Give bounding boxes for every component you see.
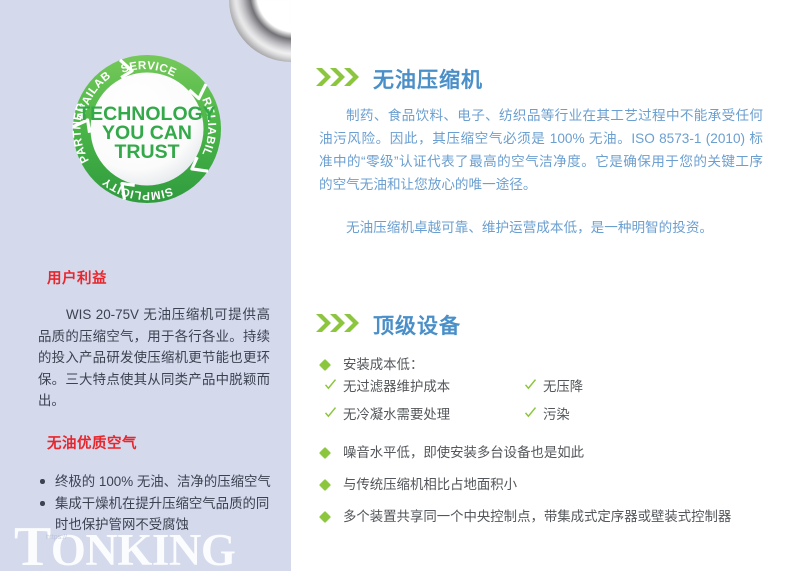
section2-lead-bullet-list: 安装成本低： <box>317 354 767 376</box>
list-item: 与传统压缩机相比占地面积小 <box>317 474 767 496</box>
check-icon <box>525 407 536 418</box>
check-item: 无压降 <box>517 375 717 399</box>
section-header-oil-free-compressor: 无油压缩机 <box>316 64 483 94</box>
section-header-top-equipment: 顶级设备 <box>316 310 461 340</box>
triple-chevron-icon <box>316 67 362 92</box>
sidebar-heading-benefits: 用户利益 <box>47 267 107 288</box>
diamond-bullet-icon <box>319 479 330 490</box>
list-item-label: 安装成本低： <box>343 357 423 372</box>
check-icon <box>325 407 336 418</box>
sidebar-panel: AVAILABILITY SERVICEABILITY RELIABILITY … <box>0 0 291 571</box>
logo-line-3: TRUST <box>115 141 180 163</box>
section1-paragraph-2: 无油压缩机卓越可靠、维护运营成本低，是一种明智的投资。 <box>319 216 763 239</box>
triple-chevron-icon <box>316 313 362 338</box>
page-curl-corner <box>229 0 291 62</box>
list-item: 安装成本低： <box>317 354 767 376</box>
brochure-page: AVAILABILITY SERVICEABILITY RELIABILITY … <box>0 0 788 571</box>
check-item-label: 无冷凝水需要处理 <box>343 407 450 422</box>
check-icon <box>525 379 536 390</box>
check-item: 无冷凝水需要处理 <box>317 403 517 427</box>
sidebar-heading-oilfree-air: 无油优质空气 <box>47 432 137 453</box>
list-item-label: 与传统压缩机相比占地面积小 <box>343 477 517 492</box>
watermark-logo: TONKING <box>14 519 235 571</box>
watermark-url: https:// <box>46 534 67 541</box>
section2-bullet-list: 噪音水平低，即使安装多台设备也是如此 与传统压缩机相比占地面积小 多个装置共享同… <box>317 442 767 538</box>
page-curl-edge <box>229 0 291 62</box>
watermark-text: ONKING <box>51 525 236 571</box>
list-item: 多个装置共享同一个中央控制点，带集成式定序器或壁装式控制器 <box>317 506 767 528</box>
section1-paragraph-1: 制药、食品饮料、电子、纺织品等行业在其工艺过程中不能承受任何油污风险。因此，其压… <box>319 104 763 196</box>
diamond-bullet-icon <box>319 511 330 522</box>
section2-check-grid: 无过滤器维护成本 无压降 无冷凝水需要处理 <box>317 375 757 427</box>
check-item: 无过滤器维护成本 <box>317 375 517 399</box>
check-item: 污染 <box>517 403 717 427</box>
sidebar-paragraph-benefits: WIS 20-75V 无油压缩机可提供高品质的压缩空气，用于各行各业。持续的投入… <box>38 304 270 412</box>
diamond-bullet-icon <box>319 359 330 370</box>
list-item-label: 多个装置共享同一个中央控制点，带集成式定序器或壁装式控制器 <box>343 509 731 524</box>
watermark-initial: T <box>14 516 51 571</box>
diamond-bullet-icon <box>319 447 330 458</box>
section-title: 无油压缩机 <box>373 64 483 94</box>
list-item: 噪音水平低，即使安装多台设备也是如此 <box>317 442 767 464</box>
check-item-label: 污染 <box>543 407 570 422</box>
check-item-label: 无过滤器维护成本 <box>343 379 450 394</box>
list-item: 终极的 100% 无油、洁净的压缩空气 <box>38 471 276 492</box>
technology-you-can-trust-logo: AVAILABILITY SERVICEABILITY RELIABILITY … <box>56 38 238 220</box>
content-panel: 无油压缩机 制药、食品饮料、电子、纺织品等行业在其工艺过程中不能承受任何油污风险… <box>291 0 788 571</box>
check-icon <box>325 379 336 390</box>
check-item-label: 无压降 <box>543 379 583 394</box>
list-item-label: 噪音水平低，即使安装多台设备也是如此 <box>343 445 584 460</box>
section-title: 顶级设备 <box>373 310 461 340</box>
